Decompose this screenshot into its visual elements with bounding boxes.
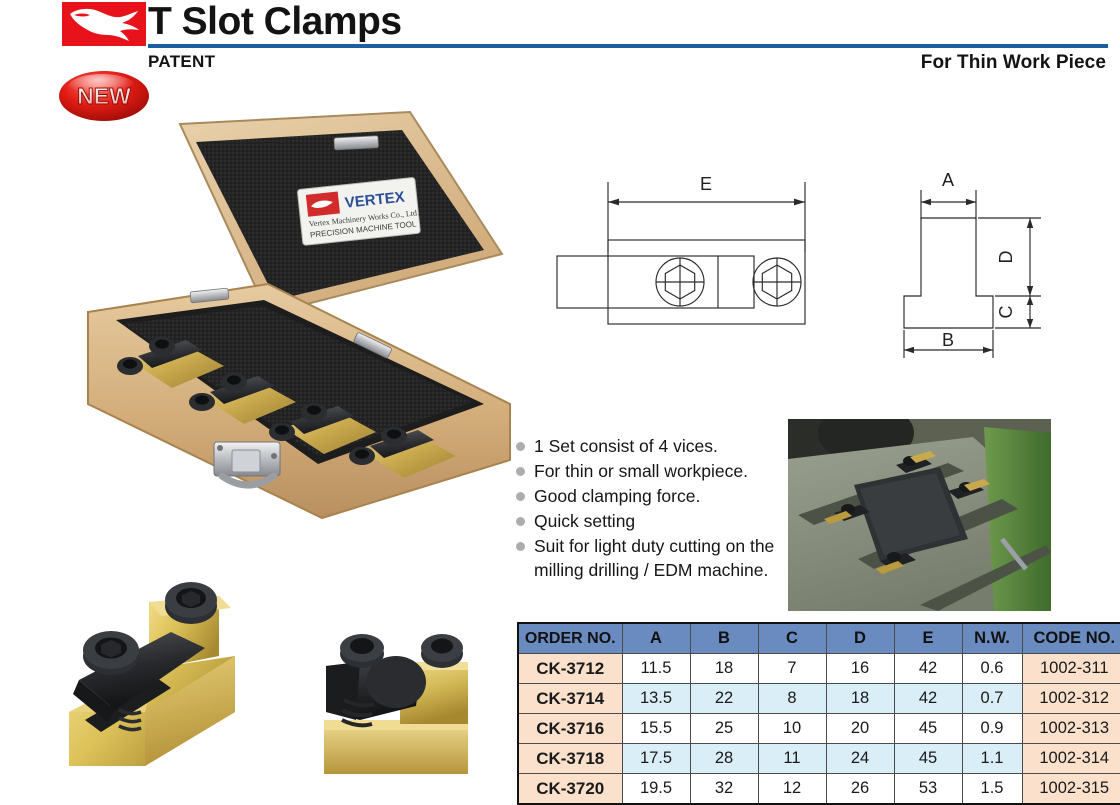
cell-b: 22 [690, 684, 758, 714]
cell-a: 19.5 [622, 774, 690, 805]
list-item: For thin or small workpiece. [516, 459, 784, 483]
patent-label: PATENT [148, 52, 215, 72]
list-item: Quick setting [516, 509, 784, 533]
cell-c: 10 [758, 714, 826, 744]
dim-label-d: D [996, 251, 1016, 264]
column-header-a: A [622, 623, 690, 654]
cell-e: 45 [894, 714, 962, 744]
bullet-icon [516, 442, 525, 451]
cell-order-no: CK-3718 [518, 744, 622, 774]
cell-nw: 0.7 [962, 684, 1022, 714]
cell-code-no: 1002-315 [1022, 774, 1120, 805]
dim-label-c: C [996, 306, 1016, 319]
cell-code-no: 1002-312 [1022, 684, 1120, 714]
vertex-eagle-logo-icon [62, 2, 146, 46]
table-header-row: ORDER NO. A B C D E N.W. CODE NO. [518, 623, 1120, 654]
cell-code-no: 1002-311 [1022, 654, 1120, 684]
cell-e: 45 [894, 744, 962, 774]
dim-label-a: A [942, 170, 954, 190]
cell-c: 8 [758, 684, 826, 714]
dim-label-b: B [942, 330, 954, 350]
technical-drawing-plan-view: E [555, 160, 855, 365]
cell-a: 17.5 [622, 744, 690, 774]
column-header-e: E [894, 623, 962, 654]
table-row: CK-3714 13.5 22 8 18 42 0.7 1002-312 [518, 684, 1120, 714]
cell-b: 32 [690, 774, 758, 805]
column-header-c: C [758, 623, 826, 654]
bullet-icon [516, 542, 525, 551]
list-item: Good clamping force. [516, 484, 784, 508]
cell-d: 18 [826, 684, 894, 714]
application-photo [788, 419, 1051, 611]
cell-a: 13.5 [622, 684, 690, 714]
specification-table: ORDER NO. A B C D E N.W. CODE NO. CK-371… [517, 622, 1120, 805]
cell-b: 28 [690, 744, 758, 774]
cell-d: 20 [826, 714, 894, 744]
catalog-page: T Slot Clamps PATENT For Thin Work Piece [0, 0, 1120, 790]
cell-order-no: CK-3716 [518, 714, 622, 744]
cell-order-no: CK-3714 [518, 684, 622, 714]
cell-d: 26 [826, 774, 894, 805]
cell-b: 18 [690, 654, 758, 684]
cell-b: 25 [690, 714, 758, 744]
table-row: CK-3716 15.5 25 10 20 45 0.9 1002-313 [518, 714, 1120, 744]
cell-order-no: CK-3712 [518, 654, 622, 684]
product-case-photo: VERTEX Vertex Machinery Works Co., Ltd. … [72, 104, 512, 524]
column-header-nw: N.W. [962, 623, 1022, 654]
column-header-d: D [826, 623, 894, 654]
cell-c: 12 [758, 774, 826, 805]
column-header-code-no: CODE NO. [1022, 623, 1120, 654]
header-rule [148, 44, 1108, 48]
table-row: CK-3718 17.5 28 11 24 45 1.1 1002-314 [518, 744, 1120, 774]
cell-e: 42 [894, 684, 962, 714]
cell-e: 42 [894, 654, 962, 684]
cell-nw: 0.9 [962, 714, 1022, 744]
product-closeup-photo-2 [300, 620, 510, 790]
bullet-icon [516, 492, 525, 501]
cell-a: 11.5 [622, 654, 690, 684]
feature-list: 1 Set consist of 4 vices. For thin or sm… [516, 434, 784, 583]
cell-d: 24 [826, 744, 894, 774]
cell-nw: 1.1 [962, 744, 1022, 774]
cell-c: 11 [758, 744, 826, 774]
bullet-icon [516, 517, 525, 526]
column-header-order-no: ORDER NO. [518, 623, 622, 654]
product-closeup-photo-1 [45, 560, 295, 790]
bullet-icon [516, 467, 525, 476]
cell-a: 15.5 [622, 714, 690, 744]
cell-e: 53 [894, 774, 962, 805]
cell-nw: 1.5 [962, 774, 1022, 805]
cell-order-no: CK-3720 [518, 774, 622, 805]
cell-nw: 0.6 [962, 654, 1022, 684]
technical-drawing-section-view: A B D C [875, 160, 1080, 365]
page-title: T Slot Clamps [148, 0, 402, 46]
cell-d: 16 [826, 654, 894, 684]
dim-label-e: E [700, 174, 712, 194]
table-row: CK-3720 19.5 32 12 26 53 1.5 1002-315 [518, 774, 1120, 805]
list-item: Suit for light duty cutting on the milli… [516, 534, 784, 582]
cell-code-no: 1002-314 [1022, 744, 1120, 774]
cell-code-no: 1002-313 [1022, 714, 1120, 744]
list-item: 1 Set consist of 4 vices. [516, 434, 784, 458]
column-header-b: B [690, 623, 758, 654]
table-row: CK-3712 11.5 18 7 16 42 0.6 1002-311 [518, 654, 1120, 684]
header-subtitle: For Thin Work Piece [921, 52, 1106, 74]
cell-c: 7 [758, 654, 826, 684]
